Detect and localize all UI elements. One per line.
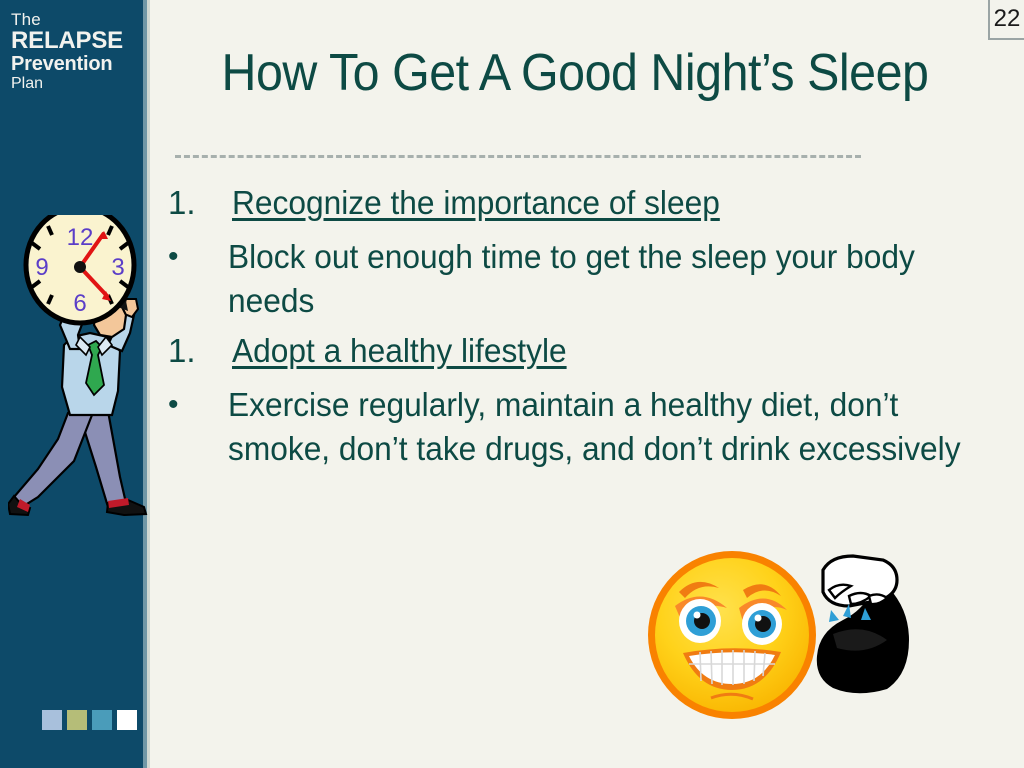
list-marker: •: [168, 235, 179, 279]
slide-title: How To Get A Good Night’s Sleep: [203, 43, 947, 103]
list-marker: 1.: [168, 329, 196, 373]
title-divider: [175, 155, 861, 158]
list-item-text: Adopt a healthy lifestyle: [232, 329, 969, 373]
brand-logo: The RELAPSE Prevention Plan: [11, 11, 136, 92]
list-item-text: Block out enough time to get the sleep y…: [228, 235, 969, 323]
svg-text:6: 6: [73, 290, 86, 317]
list-marker: •: [168, 383, 179, 427]
swatch-teal: [92, 710, 112, 730]
list-item: • Exercise regularly, maintain a healthy…: [160, 383, 1000, 471]
man-carrying-clock-illustration: 12 3 6 9: [8, 215, 158, 520]
svg-text:9: 9: [35, 254, 48, 281]
color-swatch-row: [42, 710, 137, 730]
swatch-light-blue: [42, 710, 62, 730]
slide-canvas: The RELAPSE Prevention Plan: [0, 0, 1024, 768]
flexing-bicep-arm-icon: [805, 548, 925, 700]
list-marker: 1.: [168, 181, 196, 225]
logo-line-relapse: RELAPSE: [11, 29, 136, 53]
grinning-smiley-face-icon: [645, 548, 820, 723]
swatch-olive: [67, 710, 87, 730]
list-item-text: Exercise regularly, maintain a healthy d…: [228, 383, 969, 471]
list-item: • Block out enough time to get the sleep…: [160, 235, 1000, 323]
logo-line-prevention: Prevention: [11, 54, 136, 74]
svg-text:12: 12: [67, 224, 94, 251]
svg-text:3: 3: [111, 254, 124, 281]
list-item: 1. Adopt a healthy lifestyle: [160, 329, 1000, 373]
list-item-text: Recognize the importance of sleep: [232, 181, 969, 225]
logo-line-plan: Plan: [11, 76, 136, 92]
logo-line-the: The: [11, 11, 136, 28]
swatch-white: [117, 710, 137, 730]
list-item: 1. Recognize the importance of sleep: [160, 181, 1000, 225]
content-list: 1. Recognize the importance of sleep • B…: [160, 181, 1000, 477]
page-number: 22: [988, 0, 1024, 40]
